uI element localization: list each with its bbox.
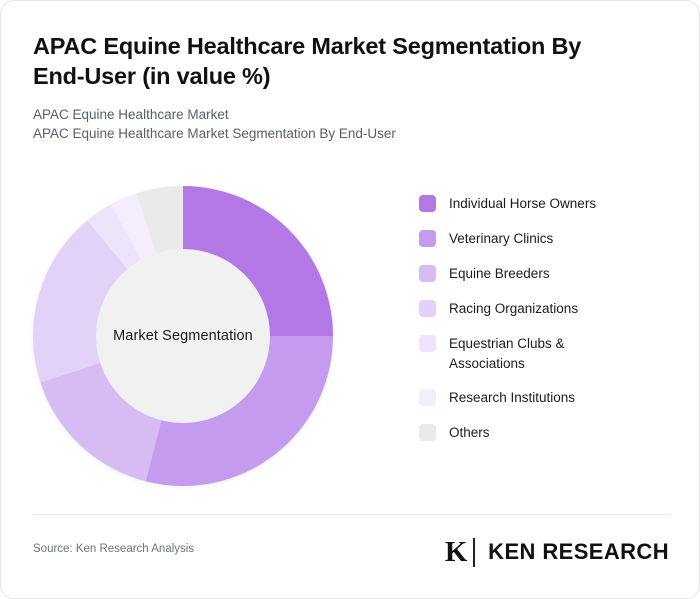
- subtitle-market: APAC Equine Healthcare Market: [33, 105, 645, 124]
- source-text: Source: Ken Research Analysis: [33, 543, 194, 555]
- legend-item[interactable]: Research Institutions: [419, 388, 669, 408]
- footer-divider: [33, 514, 669, 515]
- legend-swatch-icon: [419, 300, 436, 317]
- legend-label: Equine Breeders: [449, 264, 550, 284]
- donut-chart-svg: [33, 186, 333, 486]
- legend-swatch-icon: [419, 424, 436, 441]
- legend-item[interactable]: Equine Breeders: [419, 264, 669, 284]
- legend-swatch-icon: [419, 389, 436, 406]
- page-title: APAC Equine Healthcare Market Segmentati…: [33, 31, 633, 91]
- brand-initial: K: [439, 535, 473, 569]
- legend-label: Equestrian Clubs & Associations: [449, 334, 634, 373]
- chart-card-inner: APAC Equine Healthcare Market Segmentati…: [1, 1, 700, 599]
- legend-swatch-icon: [419, 335, 436, 352]
- legend-label: Racing Organizations: [449, 299, 578, 319]
- brand-name: KEN RESEARCH: [488, 539, 669, 565]
- chart-footer: Source: Ken Research Analysis K KEN RESE…: [33, 532, 669, 574]
- subtitle-group: APAC Equine Healthcare Market APAC Equin…: [33, 105, 645, 143]
- brand-divider-bar: [473, 538, 475, 567]
- subtitle-segmentation: APAC Equine Healthcare Market Segmentati…: [33, 124, 645, 143]
- chart-legend: Individual Horse OwnersVeterinary Clinic…: [419, 194, 669, 443]
- legend-swatch-icon: [419, 265, 436, 282]
- legend-item[interactable]: Individual Horse Owners: [419, 194, 669, 214]
- chart-header: APAC Equine Healthcare Market Segmentati…: [33, 31, 645, 143]
- legend-label: Veterinary Clinics: [449, 229, 553, 249]
- legend-label: Others: [449, 423, 490, 443]
- brand-k-icon: K: [439, 535, 473, 569]
- legend-item[interactable]: Veterinary Clinics: [419, 229, 669, 249]
- chart-body: Market Segmentation Individual Horse Own…: [1, 166, 700, 511]
- legend-item[interactable]: Equestrian Clubs & Associations: [419, 334, 669, 373]
- legend-label: Research Institutions: [449, 388, 575, 408]
- brand-logo: K KEN RESEARCH: [439, 532, 669, 572]
- legend-item[interactable]: Racing Organizations: [419, 299, 669, 319]
- legend-swatch-icon: [419, 195, 436, 212]
- legend-swatch-icon: [419, 230, 436, 247]
- legend-label: Individual Horse Owners: [449, 194, 596, 214]
- donut-hole: [96, 249, 270, 423]
- donut-chart: Market Segmentation: [33, 186, 333, 486]
- legend-item[interactable]: Others: [419, 423, 669, 443]
- chart-card: APAC Equine Healthcare Market Segmentati…: [0, 0, 700, 599]
